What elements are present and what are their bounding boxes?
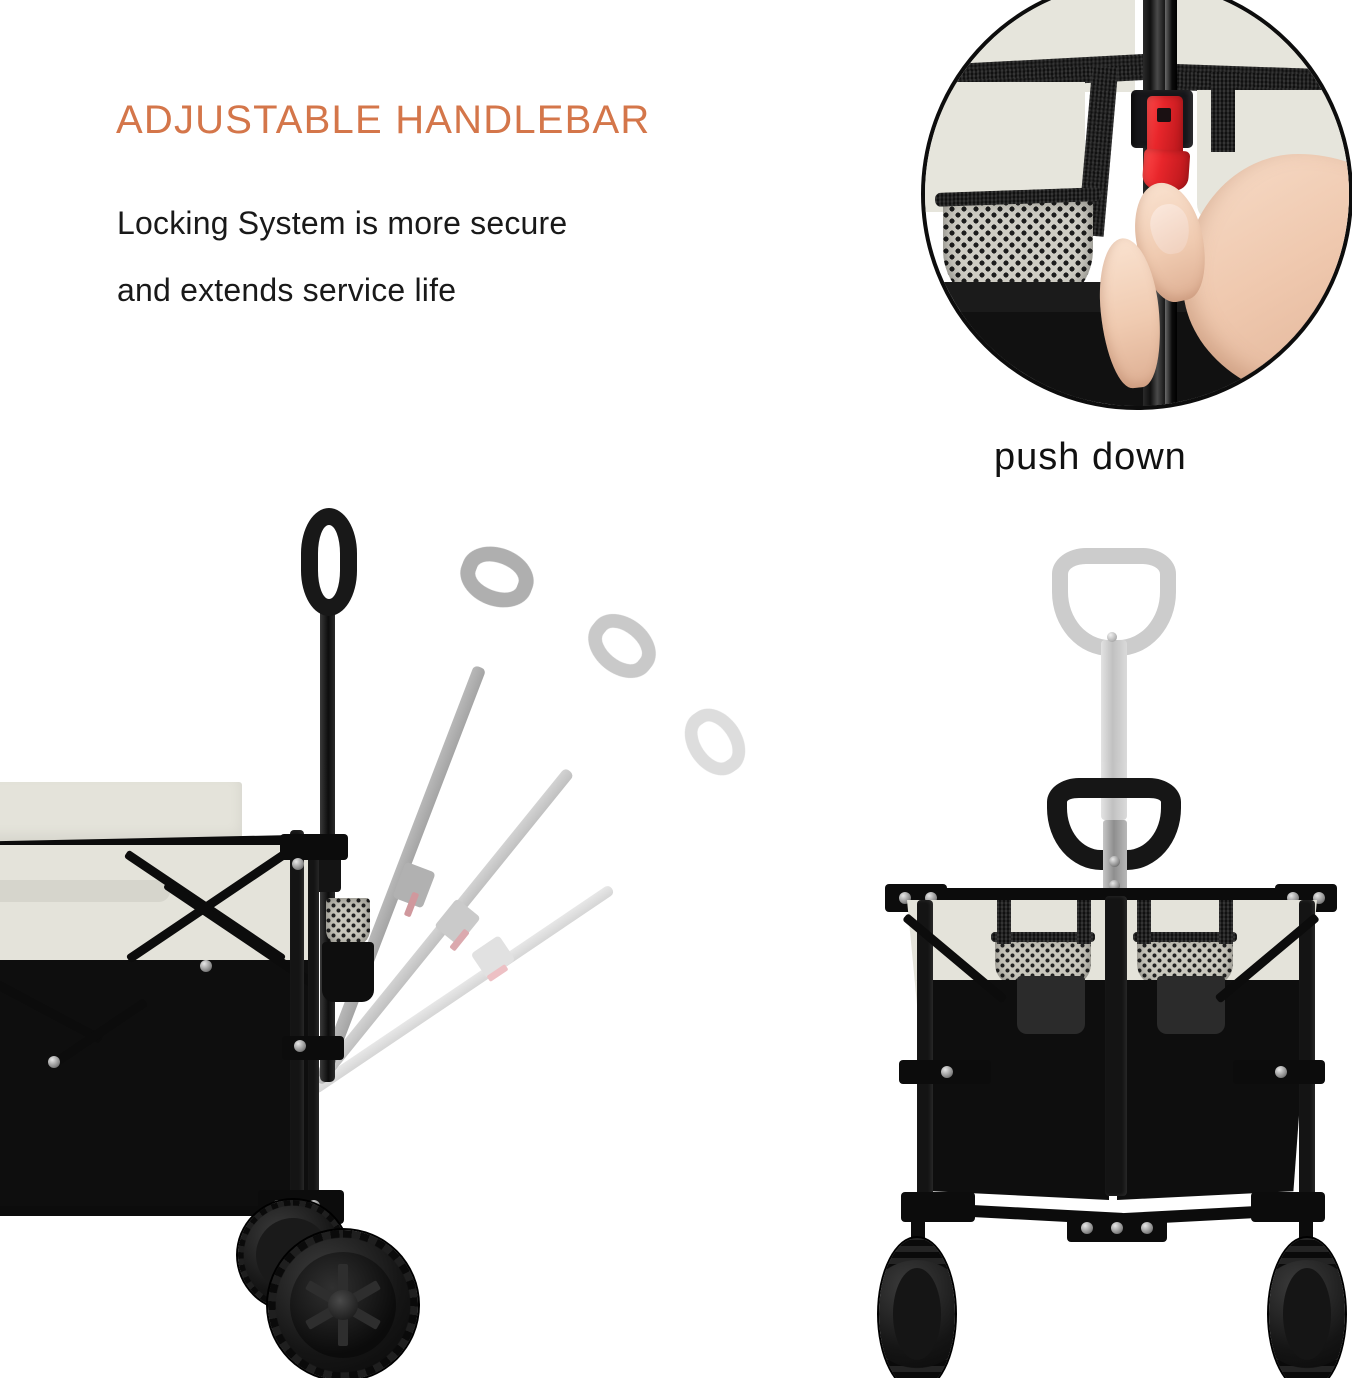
front-mid-rivet-left: [941, 1066, 953, 1078]
wagon-front-post-right: [1299, 900, 1315, 1200]
wagon-left-brace-rivet-upper: [200, 960, 212, 972]
front-strap-divider-2: [1077, 900, 1091, 944]
wagon-front-center-post: [1105, 896, 1127, 1196]
wagon-left-mesh-pocket: [326, 898, 370, 946]
front-mid-rivet-right: [1275, 1066, 1287, 1078]
wagon-left-top-bracket: [280, 834, 348, 860]
front-wheel-mount-right: [1251, 1192, 1325, 1222]
wagon-left-brace-rivet-lower: [48, 1056, 60, 1068]
wagon-left-rear-post: [290, 830, 304, 1220]
front-inner-pocket-right: [1157, 976, 1225, 1034]
front-bottom-rivet-a: [1081, 1222, 1093, 1234]
wagon-left-top-cover: [0, 782, 242, 844]
wagon-left-lower-fabric: [0, 960, 310, 1210]
wagon-left-mid-bracket: [282, 1036, 344, 1060]
wagon-left-fabric-fold: [0, 880, 170, 902]
page-title: ADJUSTABLE HANDLEBAR: [116, 98, 651, 143]
wagon-front-wheel-right: [1269, 1238, 1345, 1378]
front-strap-divider-1: [997, 900, 1011, 944]
wheel-hub: [1283, 1268, 1331, 1360]
push-down-callout-label: push down: [994, 436, 1187, 479]
front-inner-pocket-left: [1017, 976, 1085, 1034]
wagon-front-view-illustration: [855, 520, 1352, 1378]
wagon-front-post-left: [917, 900, 933, 1200]
wagon-left-wheel-front: [268, 1230, 418, 1378]
feature-description-line-1: Locking System is more secure: [117, 205, 567, 242]
inset-webbing-strap-vertical-right: [1211, 72, 1235, 152]
front-bottom-rivet-b: [1111, 1222, 1123, 1234]
wagon-left-rear-post-inner: [308, 845, 319, 1195]
feature-description-line-2: and extends service life: [117, 272, 456, 309]
wheel-hub: [893, 1268, 941, 1360]
wheel-hub-cap: [328, 1290, 358, 1320]
front-strap-divider-3: [1137, 900, 1151, 944]
inset-lock-lever-slot: [1157, 108, 1171, 122]
wagon-left-top-bracket-rivet: [292, 858, 304, 870]
front-bottom-rivet-c: [1141, 1222, 1153, 1234]
front-strap-divider-4: [1219, 900, 1233, 944]
wagon-front-wheel-left: [879, 1238, 955, 1378]
lock-mechanism-photo-inset: [921, 0, 1352, 410]
inset-scene: [925, 0, 1349, 406]
product-feature-infographic: ADJUSTABLE HANDLEBAR Locking System is m…: [0, 0, 1352, 1378]
wagon-side-view-illustration: [0, 500, 460, 1378]
wagon-left-pocket-base: [322, 942, 374, 1002]
wagon-left-mid-bracket-rivet: [294, 1040, 306, 1052]
